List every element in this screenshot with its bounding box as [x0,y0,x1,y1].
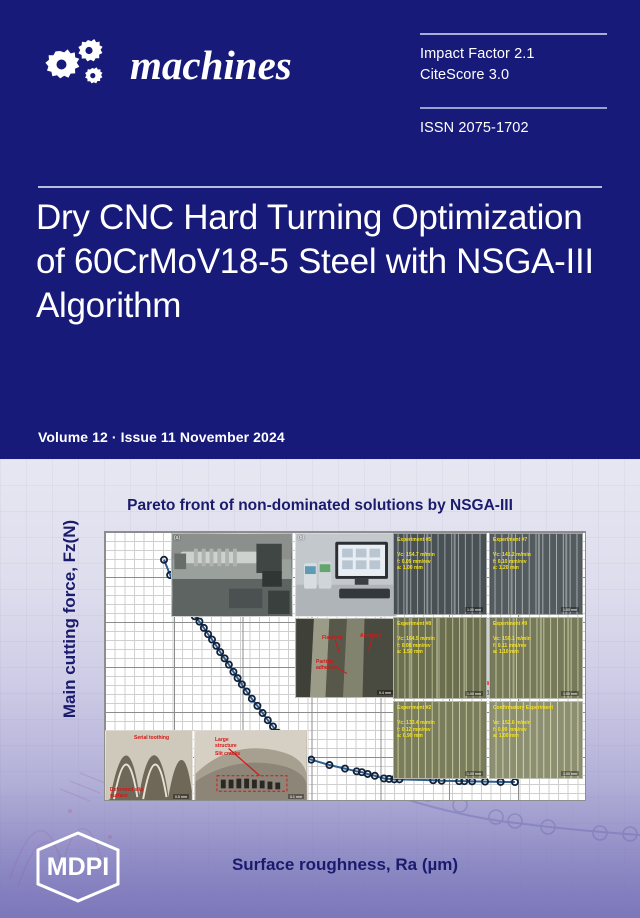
micrograph-4-params: Vc: 133.4 m/min f: 0.12 mm/rev a: 0.90 m… [397,720,435,740]
micrograph-3-scalebar: 1.00 mm [561,691,579,696]
micrograph-5: Confirmatory Experiment Vc: 152.6 m/min … [489,701,583,779]
micrograph-1-title: Experiment #7 [493,537,527,544]
mdpi-logo: MDPI [30,830,126,904]
inset-f-scalebar: 0.1 mm [288,794,304,799]
inset-b-measurement-setup: (b) [295,533,397,617]
title-divider [38,186,602,188]
micrograph-4-scalebar: 1.00 mm [465,771,483,776]
inset-e-scalebar: 0.5 mm [173,794,189,799]
micrograph-3-title: Experiment #9 [493,621,527,628]
journal-metrics: Impact Factor 2.1 CiteScore 3.0 ISSN 207… [420,33,607,136]
x-axis-label: Surface roughness, Ra (µm) [104,855,586,875]
micrograph-4: Experiment #2 Vc: 133.4 m/min f: 0.12 mm… [393,701,487,779]
micrograph-2-scalebar: 1.00 mm [465,691,483,696]
inset-e-label-0: Serial toothing [134,735,169,741]
micrograph-2-title: Experiment #8 [397,621,431,628]
micrograph-4-title: Experiment #2 [397,705,431,712]
impact-factor: Impact Factor 2.1 [420,44,607,65]
micrograph-2: Experiment #8 Vc: 164.5 m/min f: 0.08 mm… [393,617,487,699]
inset-a-caption: (a) [174,535,180,541]
journal-logo: machines [38,34,292,96]
journal-name: machines [130,45,292,86]
micrograph-0-scalebar: 1.00 mm [465,607,483,612]
issn: ISSN 2075-1702 [420,109,607,136]
micrograph-1-params: Vc: 141.2 m/min f: 0.10 mm/rev a: 1.20 m… [493,552,531,572]
micrograph-0-params: Vc: 154.7 m/min f: 0.09 mm/rev a: 1.00 m… [397,552,435,572]
inset-e-chip-morphology: Serial toothing Deformed slip surface 0.… [105,730,193,801]
page-title: Dry CNC Hard Turning Optimization of 60C… [36,196,616,328]
mdpi-wordmark: MDPI [47,853,110,881]
micrograph-3: Experiment #9 Vc: 150.1 m/min f: 0.11 mm… [489,617,583,699]
cover-header-panel: machines Impact Factor 2.1 CiteScore 3.0… [0,0,640,459]
y-axis-label: Main cutting force, Fz(N) [60,489,80,749]
micrograph-1-scalebar: 1.00 mm [561,607,579,612]
inset-e-label-1: Deformed slip surface [110,787,156,799]
micrograph-5-title: Confirmatory Experiment [493,705,553,712]
gears-icon [38,34,116,96]
inset-a-cnc-lathe: (a) [171,533,293,617]
plot-area: 110 105 100 95 90 85 80 0.70 0.75 0.8 [104,531,586,801]
micrograph-0: Experiment #5 Vc: 154.7 m/min f: 0.09 mm… [393,533,487,615]
micrograph-0-title: Experiment #5 [397,537,431,544]
cover-figure-panel: Pareto front of non-dominated solutions … [0,459,640,918]
micrograph-5-params: Vc: 152.6 m/min f: 0.09 mm/rev a: 1.00 m… [493,720,531,740]
citescore: CiteScore 3.0 [420,65,607,86]
micrograph-5-scalebar: 1.00 mm [561,771,579,776]
inset-f-label-1: Slit cracks [215,751,240,757]
micrograph-1: Experiment #7 Vc: 141.2 m/min f: 0.10 mm… [489,533,583,615]
micrograph-3-params: Vc: 150.1 m/min f: 0.11 mm/rev a: 1.10 m… [493,636,531,656]
inset-b-caption: (b) [298,535,304,541]
inset-f-label-0: Large structure [215,737,247,749]
inset-f-saw-tooth-chip: Large structure Slit cracks 0.1 mm [194,730,308,801]
micrograph-2-params: Vc: 164.5 m/min f: 0.08 mm/rev a: 1.50 m… [397,636,435,656]
inset-c-tool-wear: Flanking Abrasion Particle adhesion 0.4 … [295,618,397,698]
volume-issue: Volume 12 · Issue 11 November 2024 [38,429,285,445]
inset-c-scalebar: 0.4 mm [377,690,393,695]
journal-cover: machines Impact Factor 2.1 CiteScore 3.0… [0,0,640,918]
